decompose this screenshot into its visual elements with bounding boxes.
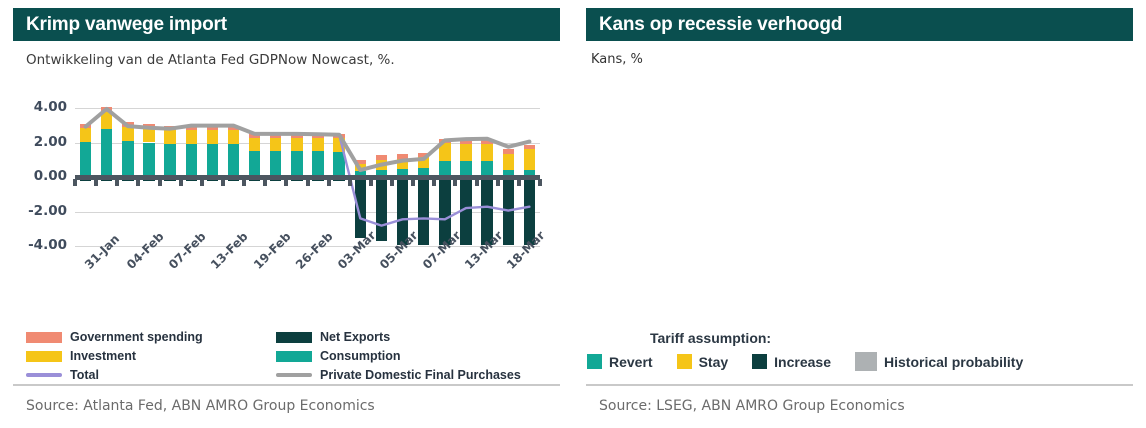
left-axis-tick <box>200 179 204 186</box>
legend-swatch-investment <box>26 351 62 362</box>
left-axis-tick <box>221 179 225 186</box>
left-axis-tick <box>73 179 77 186</box>
left-source-text: Source: Atlanta Fed, ABN AMRO Group Econ… <box>13 386 560 428</box>
legend-item-private-domestic-final-purchases: Private Domestic Final Purchases <box>276 368 566 382</box>
left-axis-tick <box>517 179 521 186</box>
legend-label-investment: Investment <box>70 349 136 363</box>
left-axis-tick <box>94 179 98 186</box>
legend-label-stay: Stay <box>699 354 729 370</box>
panel-gutter <box>560 0 573 428</box>
left-axis-tick <box>538 179 542 186</box>
left-axis-tick <box>348 179 352 186</box>
legend-label-increase: Increase <box>774 354 831 370</box>
legend-item-increase: Increase <box>752 354 831 370</box>
legend-swatch-increase <box>752 354 767 369</box>
left-axis-tick <box>136 179 140 186</box>
left-axis-tick <box>306 179 310 186</box>
right-y-axis-label: 40 <box>1140 169 1146 185</box>
left-axis-tick <box>179 179 183 186</box>
left-axis-tick <box>158 179 162 186</box>
legend-swatch-historical-probability <box>855 352 877 371</box>
left-axis-tick <box>453 179 457 186</box>
right-chart-plot: 806040200Technical Recession 2025Q1-Q2Co… <box>573 0 1146 330</box>
right-source-text: Source: LSEG, ABN AMRO Group Economics <box>586 386 1133 428</box>
right-y-axis-label: 60 <box>1140 130 1146 146</box>
left-axis-tick <box>242 179 246 186</box>
legend-item-government-spending: Government spending <box>26 330 276 344</box>
legend-label-private-domestic-final-purchases: Private Domestic Final Purchases <box>320 368 521 382</box>
left-axis-tick <box>327 179 331 186</box>
legend-label-consumption: Consumption <box>320 349 401 363</box>
left-axis-tick <box>115 179 119 186</box>
left-axis-tick <box>390 179 394 186</box>
panel-right: Kans op recessie verhoogd Kans, % 806040… <box>573 0 1146 428</box>
left-legend: Government spending Net Exports Investme… <box>26 330 551 382</box>
legend-swatch-government-spending <box>26 332 62 343</box>
legend-swatch-stay <box>677 354 692 369</box>
left-axis-tick <box>411 179 415 186</box>
left-footer: Source: Atlanta Fed, ABN AMRO Group Econ… <box>13 384 560 428</box>
legend-item-net-exports: Net Exports <box>276 330 566 344</box>
legend-item-revert: Revert <box>587 354 653 370</box>
left-axis-tick <box>263 179 267 186</box>
left-chart-plot: 4.002.000.00-2.00-4.0031-Jan04-Feb07-Feb… <box>0 0 573 330</box>
legend-label-net-exports: Net Exports <box>320 330 390 344</box>
right-y-axis-label: 0 <box>1140 246 1146 262</box>
legend-swatch-total <box>26 373 62 377</box>
legend-swatch-private-domestic-final-purchases <box>276 373 312 377</box>
legend-item-total: Total <box>26 368 276 382</box>
right-legend-title: Tariff assumption: <box>650 330 771 346</box>
left-axis-tick <box>475 179 479 186</box>
left-axis-tick <box>496 179 500 186</box>
left-line-overlay <box>0 0 573 330</box>
legend-swatch-consumption <box>276 351 312 362</box>
legend-swatch-revert <box>587 354 602 369</box>
right-footer: Source: LSEG, ABN AMRO Group Economics <box>586 384 1133 428</box>
legend-label-revert: Revert <box>609 354 653 370</box>
left-axis-tick <box>432 179 436 186</box>
legend-label-total: Total <box>70 368 99 382</box>
left-axis-tick <box>369 179 373 186</box>
panel-left: Krimp vanwege import Ontwikkeling van de… <box>0 0 573 428</box>
legend-item-investment: Investment <box>26 349 276 363</box>
left-axis-tick <box>284 179 288 186</box>
legend-label-government-spending: Government spending <box>70 330 203 344</box>
legend-item-stay: Stay <box>677 354 729 370</box>
legend-swatch-net-exports <box>276 332 312 343</box>
dual-chart-page: Krimp vanwege import Ontwikkeling van de… <box>0 0 1146 428</box>
right-y-axis-label: 20 <box>1140 207 1146 223</box>
right-y-axis-label: 80 <box>1140 91 1146 107</box>
right-legend: Revert Stay Increase Historical probabil… <box>587 352 1047 371</box>
left-line-private-domestic-final-purchases <box>86 109 530 170</box>
legend-label-historical-probability: Historical probability <box>884 354 1023 370</box>
legend-item-consumption: Consumption <box>276 349 566 363</box>
legend-item-historical-probability: Historical probability <box>855 352 1023 371</box>
